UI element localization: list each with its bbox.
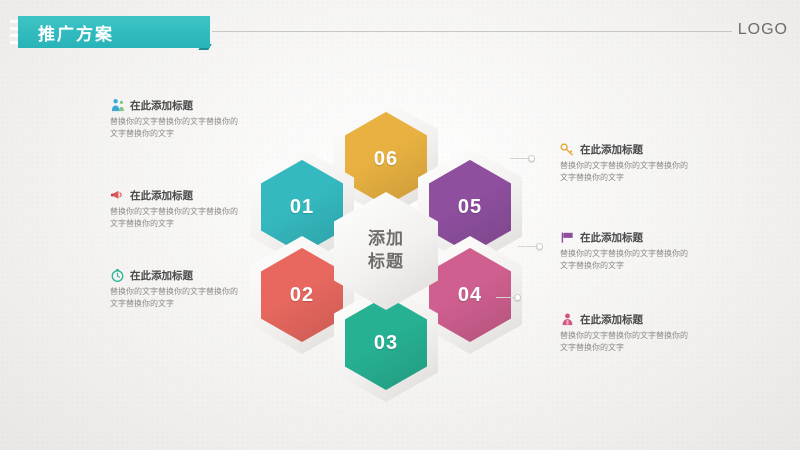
page-title: 推广方案	[38, 20, 114, 45]
callout-left-3[interactable]: 在此添加标题 替换你的文字替换你的文字替换你的文字替换你的文字	[110, 268, 242, 310]
center-title: 添加 标题	[334, 192, 438, 310]
hex-number-01: 01	[290, 196, 314, 219]
callout-left-2-body: 替换你的文字替换你的文字替换你的文字替换你的文字	[110, 206, 242, 230]
callout-left-3-body: 替换你的文字替换你的文字替换你的文字替换你的文字	[110, 286, 242, 310]
user-badge-icon	[560, 312, 575, 327]
hexagon-cluster: 06 05 01 04 02	[250, 100, 520, 365]
connector-lead-right-2	[518, 246, 538, 247]
slide-canvas: 推广方案 LOGO 06 05 01	[0, 0, 800, 450]
callout-left-2[interactable]: 在此添加标题 替换你的文字替换你的文字替换你的文字替换你的文字	[110, 188, 242, 230]
hex-number-05: 05	[458, 196, 482, 219]
callout-right-2-title: 在此添加标题	[580, 230, 643, 245]
slide-title-bar: 推广方案	[18, 16, 210, 48]
hex-number-04: 04	[458, 284, 482, 307]
hex-number-02: 02	[290, 284, 314, 307]
callout-left-3-title: 在此添加标题	[130, 268, 193, 283]
callout-left-1-title: 在此添加标题	[130, 98, 193, 113]
callout-right-1-title: 在此添加标题	[580, 142, 643, 157]
callout-right-3[interactable]: 在此添加标题 替换你的文字替换你的文字替换你的文字替换你的文字	[560, 312, 692, 354]
logo-text: LOGO	[738, 21, 788, 39]
key-icon	[560, 142, 575, 157]
callout-left-2-title: 在此添加标题	[130, 188, 193, 203]
callout-right-1-body: 替换你的文字替换你的文字替换你的文字替换你的文字	[560, 160, 692, 184]
callout-right-1[interactable]: 在此添加标题 替换你的文字替换你的文字替换你的文字替换你的文字	[560, 142, 692, 184]
hex-number-06: 06	[374, 148, 398, 171]
connector-lead-right-1	[510, 158, 530, 159]
hex-cell-center: 添加 标题	[334, 192, 438, 310]
person-icon	[110, 98, 125, 113]
callout-left-1-body: 替换你的文字替换你的文字替换你的文字替换你的文字	[110, 116, 242, 140]
header-divider	[212, 31, 732, 32]
title-tick-marks	[10, 20, 18, 44]
callout-left-1[interactable]: 在此添加标题 替换你的文字替换你的文字替换你的文字替换你的文字	[110, 98, 242, 140]
megaphone-icon	[110, 188, 125, 203]
center-title-line2: 标题	[368, 251, 404, 274]
callout-right-2-body: 替换你的文字替换你的文字替换你的文字替换你的文字	[560, 248, 692, 272]
center-title-line1: 添加	[368, 228, 404, 251]
hex-number-03: 03	[374, 332, 398, 355]
flag-icon	[560, 230, 575, 245]
connector-lead-right-3	[496, 297, 516, 298]
callout-right-3-title: 在此添加标题	[580, 312, 643, 327]
callout-right-2[interactable]: 在此添加标题 替换你的文字替换你的文字替换你的文字替换你的文字	[560, 230, 692, 272]
callout-right-3-body: 替换你的文字替换你的文字替换你的文字替换你的文字	[560, 330, 692, 354]
clock-icon	[110, 268, 125, 283]
